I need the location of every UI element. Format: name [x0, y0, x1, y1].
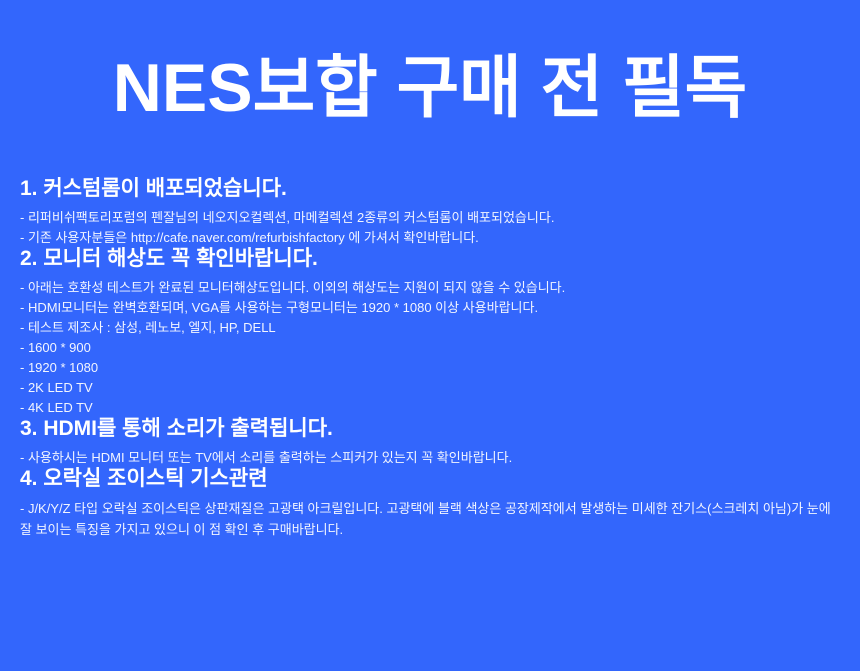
section-customrom: 1. 커스텀롬이 배포되었습니다. - 리퍼비쉬팩토리포럼의 펜잘님의 네오지오…: [20, 178, 840, 248]
page-title: NES보합 구매 전 필독: [113, 53, 747, 124]
section-heading-1: 1. 커스텀롬이 배포되었습니다.: [20, 178, 840, 199]
title-banner: NES보합 구매 전 필독: [0, 0, 860, 170]
resolution-item: - 1920 * 1080: [20, 358, 840, 378]
section-lines-2: - 아래는 호환성 테스트가 완료된 모니터해상도입니다. 이외의 해상도는 지…: [20, 278, 840, 418]
resolution-item: - 4K LED TV: [20, 398, 840, 418]
section-hdmi-audio: 3. HDMI를 통해 소리가 출력됩니다. - 사용하시는 HDMI 모니터 …: [20, 418, 840, 468]
section-heading-4: 4. 오락실 조이스틱 기스관련: [20, 468, 840, 489]
notice-content: 1. 커스텀롬이 배포되었습니다. - 리퍼비쉬팩토리포럼의 펜잘님의 네오지오…: [0, 178, 860, 540]
notice-line: - 리퍼비쉬팩토리포럼의 펜잘님의 네오지오컬렉션, 마메컬렉션 2종류의 커스…: [20, 208, 840, 228]
notice-line-url: - 기존 사용자분들은 http://cafe.naver.com/refurb…: [20, 228, 840, 248]
notice-line: - HDMI모니터는 완벽호환되며, VGA를 사용하는 구형모니터는 1920…: [20, 298, 840, 318]
notice-line-manufacturers: - 테스트 제조사 : 삼성, 레노보, 엘지, HP, DELL: [20, 318, 840, 338]
section-heading-3: 3. HDMI를 통해 소리가 출력됩니다.: [20, 418, 840, 439]
notice-page: NES보합 구매 전 필독 1. 커스텀롬이 배포되었습니다. - 리퍼비쉬팩토…: [0, 0, 860, 671]
section-lines-3: - 사용하시는 HDMI 모니터 또는 TV에서 소리를 출력하는 스피커가 있…: [20, 448, 840, 468]
section-lines-4: - J/K/Y/Z 타입 오락실 조이스틱은 상판재질은 고광택 아크릴입니다.…: [20, 498, 840, 540]
section-heading-2: 2. 모니터 해상도 꼭 확인바랍니다.: [20, 248, 840, 269]
section-joystick-scratch: 4. 오락실 조이스틱 기스관련 - J/K/Y/Z 타입 오락실 조이스틱은 …: [20, 468, 840, 540]
section-lines-1: - 리퍼비쉬팩토리포럼의 펜잘님의 네오지오컬렉션, 마메컬렉션 2종류의 커스…: [20, 208, 840, 248]
resolution-item: - 2K LED TV: [20, 378, 840, 398]
notice-line: - 아래는 호환성 테스트가 완료된 모니터해상도입니다. 이외의 해상도는 지…: [20, 278, 840, 298]
section-monitor-resolution: 2. 모니터 해상도 꼭 확인바랍니다. - 아래는 호환성 테스트가 완료된 …: [20, 248, 840, 418]
notice-line: - J/K/Y/Z 타입 오락실 조이스틱은 상판재질은 고광택 아크릴입니다.…: [20, 498, 840, 540]
notice-line: - 사용하시는 HDMI 모니터 또는 TV에서 소리를 출력하는 스피커가 있…: [20, 448, 840, 468]
resolution-item: - 1600 * 900: [20, 338, 840, 358]
